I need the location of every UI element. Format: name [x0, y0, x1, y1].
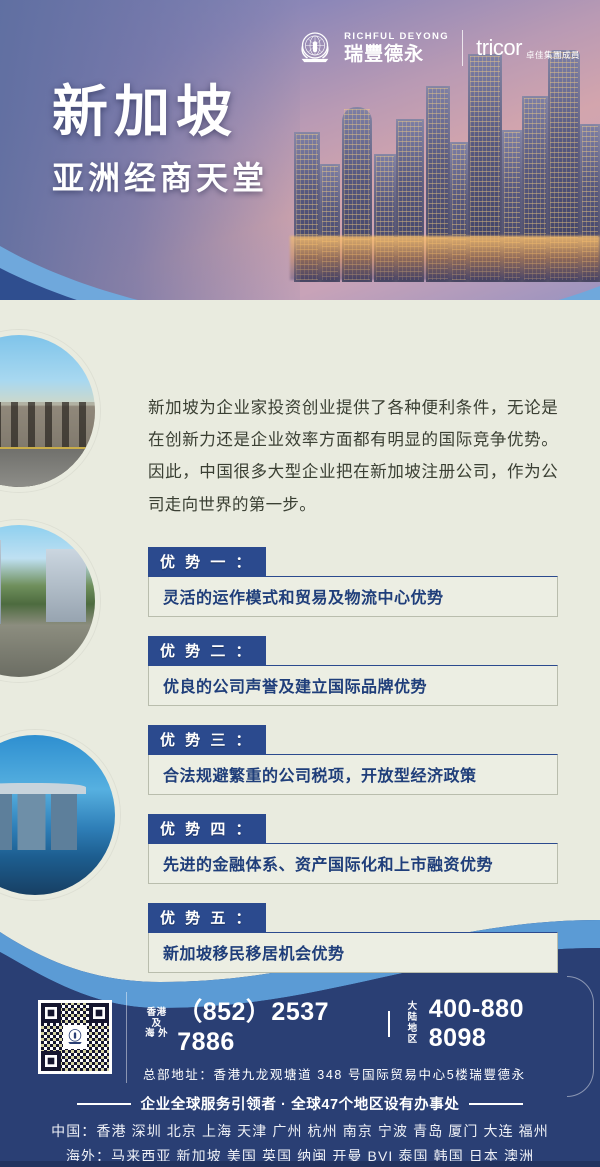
tagline-rule-right	[469, 1103, 523, 1105]
partner-name-cn: 卓佳集團成員	[526, 49, 580, 61]
photo-circle-riverside	[0, 520, 100, 682]
hk-phone-label: 香港及 海 外	[143, 1008, 170, 1041]
qr-center-logo-icon	[63, 1025, 87, 1049]
advantage-item-3: 优 势 三 ： 合法规避繁重的公司税项，开放型经济政策	[148, 725, 558, 795]
bottom-strip	[0, 1161, 600, 1167]
tagline-rule-left	[77, 1103, 131, 1105]
hero-title-block: 新加坡 亚洲经商天堂	[52, 84, 268, 194]
tagline-row: 企业全球服务引领者 · 全球47个地区设有办事处	[0, 1093, 600, 1114]
contact-details: 香港及 海 外 （852）2537 7886 大陆 地区 400-880 809…	[126, 992, 600, 1083]
circular-wreath-emblem-icon	[295, 28, 335, 68]
partner-name: tricor	[476, 35, 522, 61]
page-title: 新加坡	[52, 84, 268, 140]
poster-root: 新加坡 亚洲经商天堂 RICHFUL DEYONG 瑞豐德永 tricor	[0, 0, 600, 1167]
advantage-label: 优 势 五 ：	[148, 903, 266, 933]
top-wave-divider	[0, 228, 600, 300]
page-subtitle: 亚洲经商天堂	[52, 162, 268, 194]
advantage-item-5: 优 势 五 ： 新加坡移民移居机会优势	[148, 903, 558, 973]
main-content: 新加坡为企业家投资创业提供了各种便利条件，无论是在创新力还是企业效率方面都有明显…	[148, 392, 558, 992]
advantage-text: 新加坡移民移居机会优势	[148, 932, 558, 973]
advantage-label: 优 势 三 ：	[148, 725, 266, 755]
contact-bar: 香港及 海 外 （852）2537 7886 大陆 地区 400-880 809…	[0, 992, 600, 1082]
hero-banner: 新加坡 亚洲经商天堂 RICHFUL DEYONG 瑞豐德永 tricor	[0, 0, 600, 300]
brand-text-block: RICHFUL DEYONG 瑞豐德永	[344, 32, 449, 64]
advantage-text: 优良的公司声誉及建立国际品牌优势	[148, 665, 558, 706]
advantage-item-2: 优 势 二 ： 优良的公司声誉及建立国际品牌优势	[148, 636, 558, 706]
advantage-item-4: 优 势 四 ： 先进的金融体系、资产国际化和上市融资优势	[148, 814, 558, 884]
advantage-label: 优 势 四 ：	[148, 814, 266, 844]
intro-paragraph: 新加坡为企业家投资创业提供了各种便利条件，无论是在创新力还是企业效率方面都有明显…	[148, 392, 558, 521]
phone-row: 香港及 海 外 （852）2537 7886 大陆 地区 400-880 809…	[143, 992, 574, 1057]
cn-phone-number[interactable]: 400-880 8098	[429, 995, 574, 1053]
logo-divider	[462, 30, 463, 66]
qr-code-icon[interactable]	[38, 1000, 112, 1074]
advantage-text: 先进的金融体系、资产国际化和上市融资优势	[148, 843, 558, 884]
phone-divider	[388, 1011, 390, 1037]
advantage-label: 优 势 二 ：	[148, 636, 266, 666]
advantages-list: 优 势 一 ： 灵活的运作模式和贸易及物流中心优势 优 势 二 ： 优良的公司声…	[148, 547, 558, 973]
hk-phone-number[interactable]: （852）2537 7886	[177, 992, 374, 1057]
brand-name-en: RICHFUL DEYONG	[344, 32, 449, 42]
brand-name-cn: 瑞豐德永	[344, 45, 449, 64]
advantage-text: 灵活的运作模式和贸易及物流中心优势	[148, 576, 558, 617]
brand-logo[interactable]: RICHFUL DEYONG 瑞豐德永 tricor 卓佳集團成員	[295, 28, 580, 68]
company-tagline: 企业全球服务引领者 · 全球47个地区设有办事处	[141, 1093, 460, 1114]
photo-circle-marina-bay-sands	[0, 730, 120, 900]
cities-china: 中国：香港 深圳 北京 上海 天津 广州 杭州 南京 宁波 青岛 厦门 大连 福…	[0, 1119, 600, 1144]
photo-circle-shophouse	[0, 330, 100, 492]
cn-phone-label: 大陆 地区	[404, 1002, 422, 1046]
advantage-label: 优 势 一 ：	[148, 547, 266, 577]
advantage-item-1: 优 势 一 ： 灵活的运作模式和贸易及物流中心优势	[148, 547, 558, 617]
office-locations: 中国：香港 深圳 北京 上海 天津 广州 杭州 南京 宁波 青岛 厦门 大连 福…	[0, 1119, 600, 1167]
headquarters-address: 总部地址：香港九龙观塘道 348 号国际贸易中心5楼瑞豐德永	[143, 1064, 574, 1083]
advantage-text: 合法规避繁重的公司税项，开放型经济政策	[148, 754, 558, 795]
partner-logo: tricor 卓佳集團成員	[476, 35, 580, 61]
